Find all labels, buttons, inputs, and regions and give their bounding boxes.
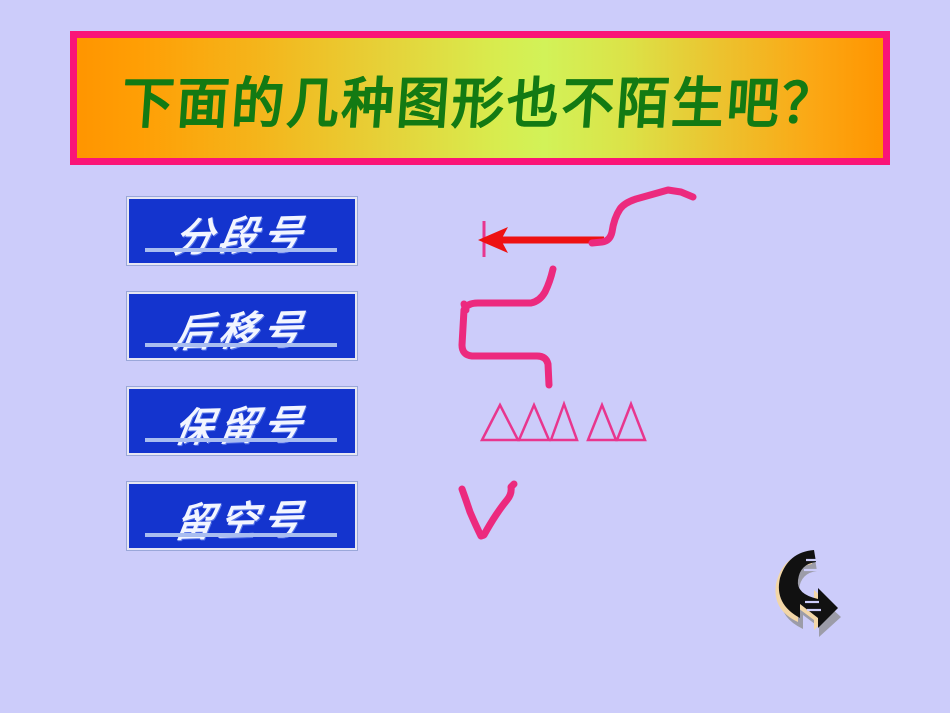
slide-title-banner: 下面的几种图形也不陌生吧？ bbox=[70, 31, 890, 165]
move-right-nib bbox=[464, 304, 466, 310]
label-underline bbox=[145, 533, 337, 537]
label-inner: 分段号 bbox=[129, 199, 355, 263]
retain-triangle bbox=[588, 405, 616, 440]
label-box-houyihao[interactable]: 后移号 bbox=[127, 292, 357, 360]
retain-triangle bbox=[482, 405, 518, 440]
retain-triangle bbox=[519, 405, 549, 440]
paragraph-break-mark bbox=[478, 190, 693, 257]
paragraph-break-arrowhead bbox=[478, 227, 508, 253]
retain-mark-group bbox=[482, 404, 645, 440]
label-box-baoliuhao[interactable]: 保留号 bbox=[127, 387, 357, 455]
retain-triangle bbox=[617, 404, 645, 440]
next-slide-arrow-button[interactable] bbox=[766, 548, 856, 638]
label-text: 留空号 bbox=[124, 485, 361, 549]
label-box-fenduanhao[interactable]: 分段号 bbox=[127, 197, 357, 265]
retain-triangle bbox=[551, 404, 577, 440]
label-text: 分段号 bbox=[124, 200, 361, 264]
paragraph-break-curve bbox=[592, 190, 693, 243]
label-text: 后移号 bbox=[124, 295, 361, 359]
label-inner: 保留号 bbox=[129, 389, 355, 453]
move-right-stroke bbox=[462, 269, 553, 385]
label-box-liukonghao[interactable]: 留空号 bbox=[127, 482, 357, 550]
leave-blank-stroke bbox=[462, 484, 514, 536]
page-title: 下面的几种图形也不陌生吧？ bbox=[120, 58, 841, 138]
label-inner: 留空号 bbox=[129, 484, 355, 548]
label-underline bbox=[145, 248, 337, 252]
leave-blank-mark bbox=[462, 484, 514, 536]
label-underline bbox=[145, 438, 337, 442]
label-inner: 后移号 bbox=[129, 294, 355, 358]
label-text: 保留号 bbox=[124, 390, 361, 454]
label-underline bbox=[145, 343, 337, 347]
move-right-mark bbox=[462, 269, 553, 385]
